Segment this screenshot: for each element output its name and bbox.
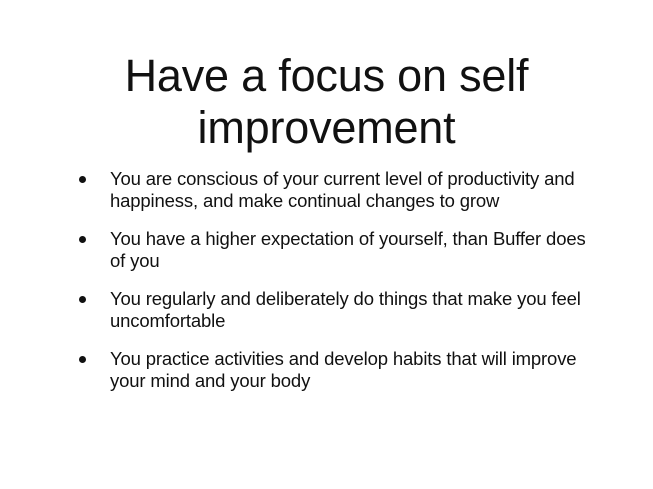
bullet-dot-icon (79, 356, 86, 363)
presentation-slide: Have a focus on self improvement You are… (0, 0, 653, 489)
bullet-dot-icon (79, 236, 86, 243)
list-item-text: You have a higher expectation of yoursel… (110, 228, 599, 272)
list-item: You have a higher expectation of yoursel… (74, 228, 599, 272)
bullet-dot-icon (79, 176, 86, 183)
list-item-text: You regularly and deliberately do things… (110, 288, 599, 332)
list-item: You regularly and deliberately do things… (74, 288, 599, 332)
bullet-dot-icon (79, 296, 86, 303)
list-item: You are conscious of your current level … (74, 168, 599, 212)
slide-title: Have a focus on self improvement (96, 50, 557, 154)
list-item-text: You are conscious of your current level … (110, 168, 599, 212)
bullet-list: You are conscious of your current level … (74, 168, 599, 392)
list-item: You practice activities and develop habi… (74, 348, 599, 392)
list-item-text: You practice activities and develop habi… (110, 348, 599, 392)
